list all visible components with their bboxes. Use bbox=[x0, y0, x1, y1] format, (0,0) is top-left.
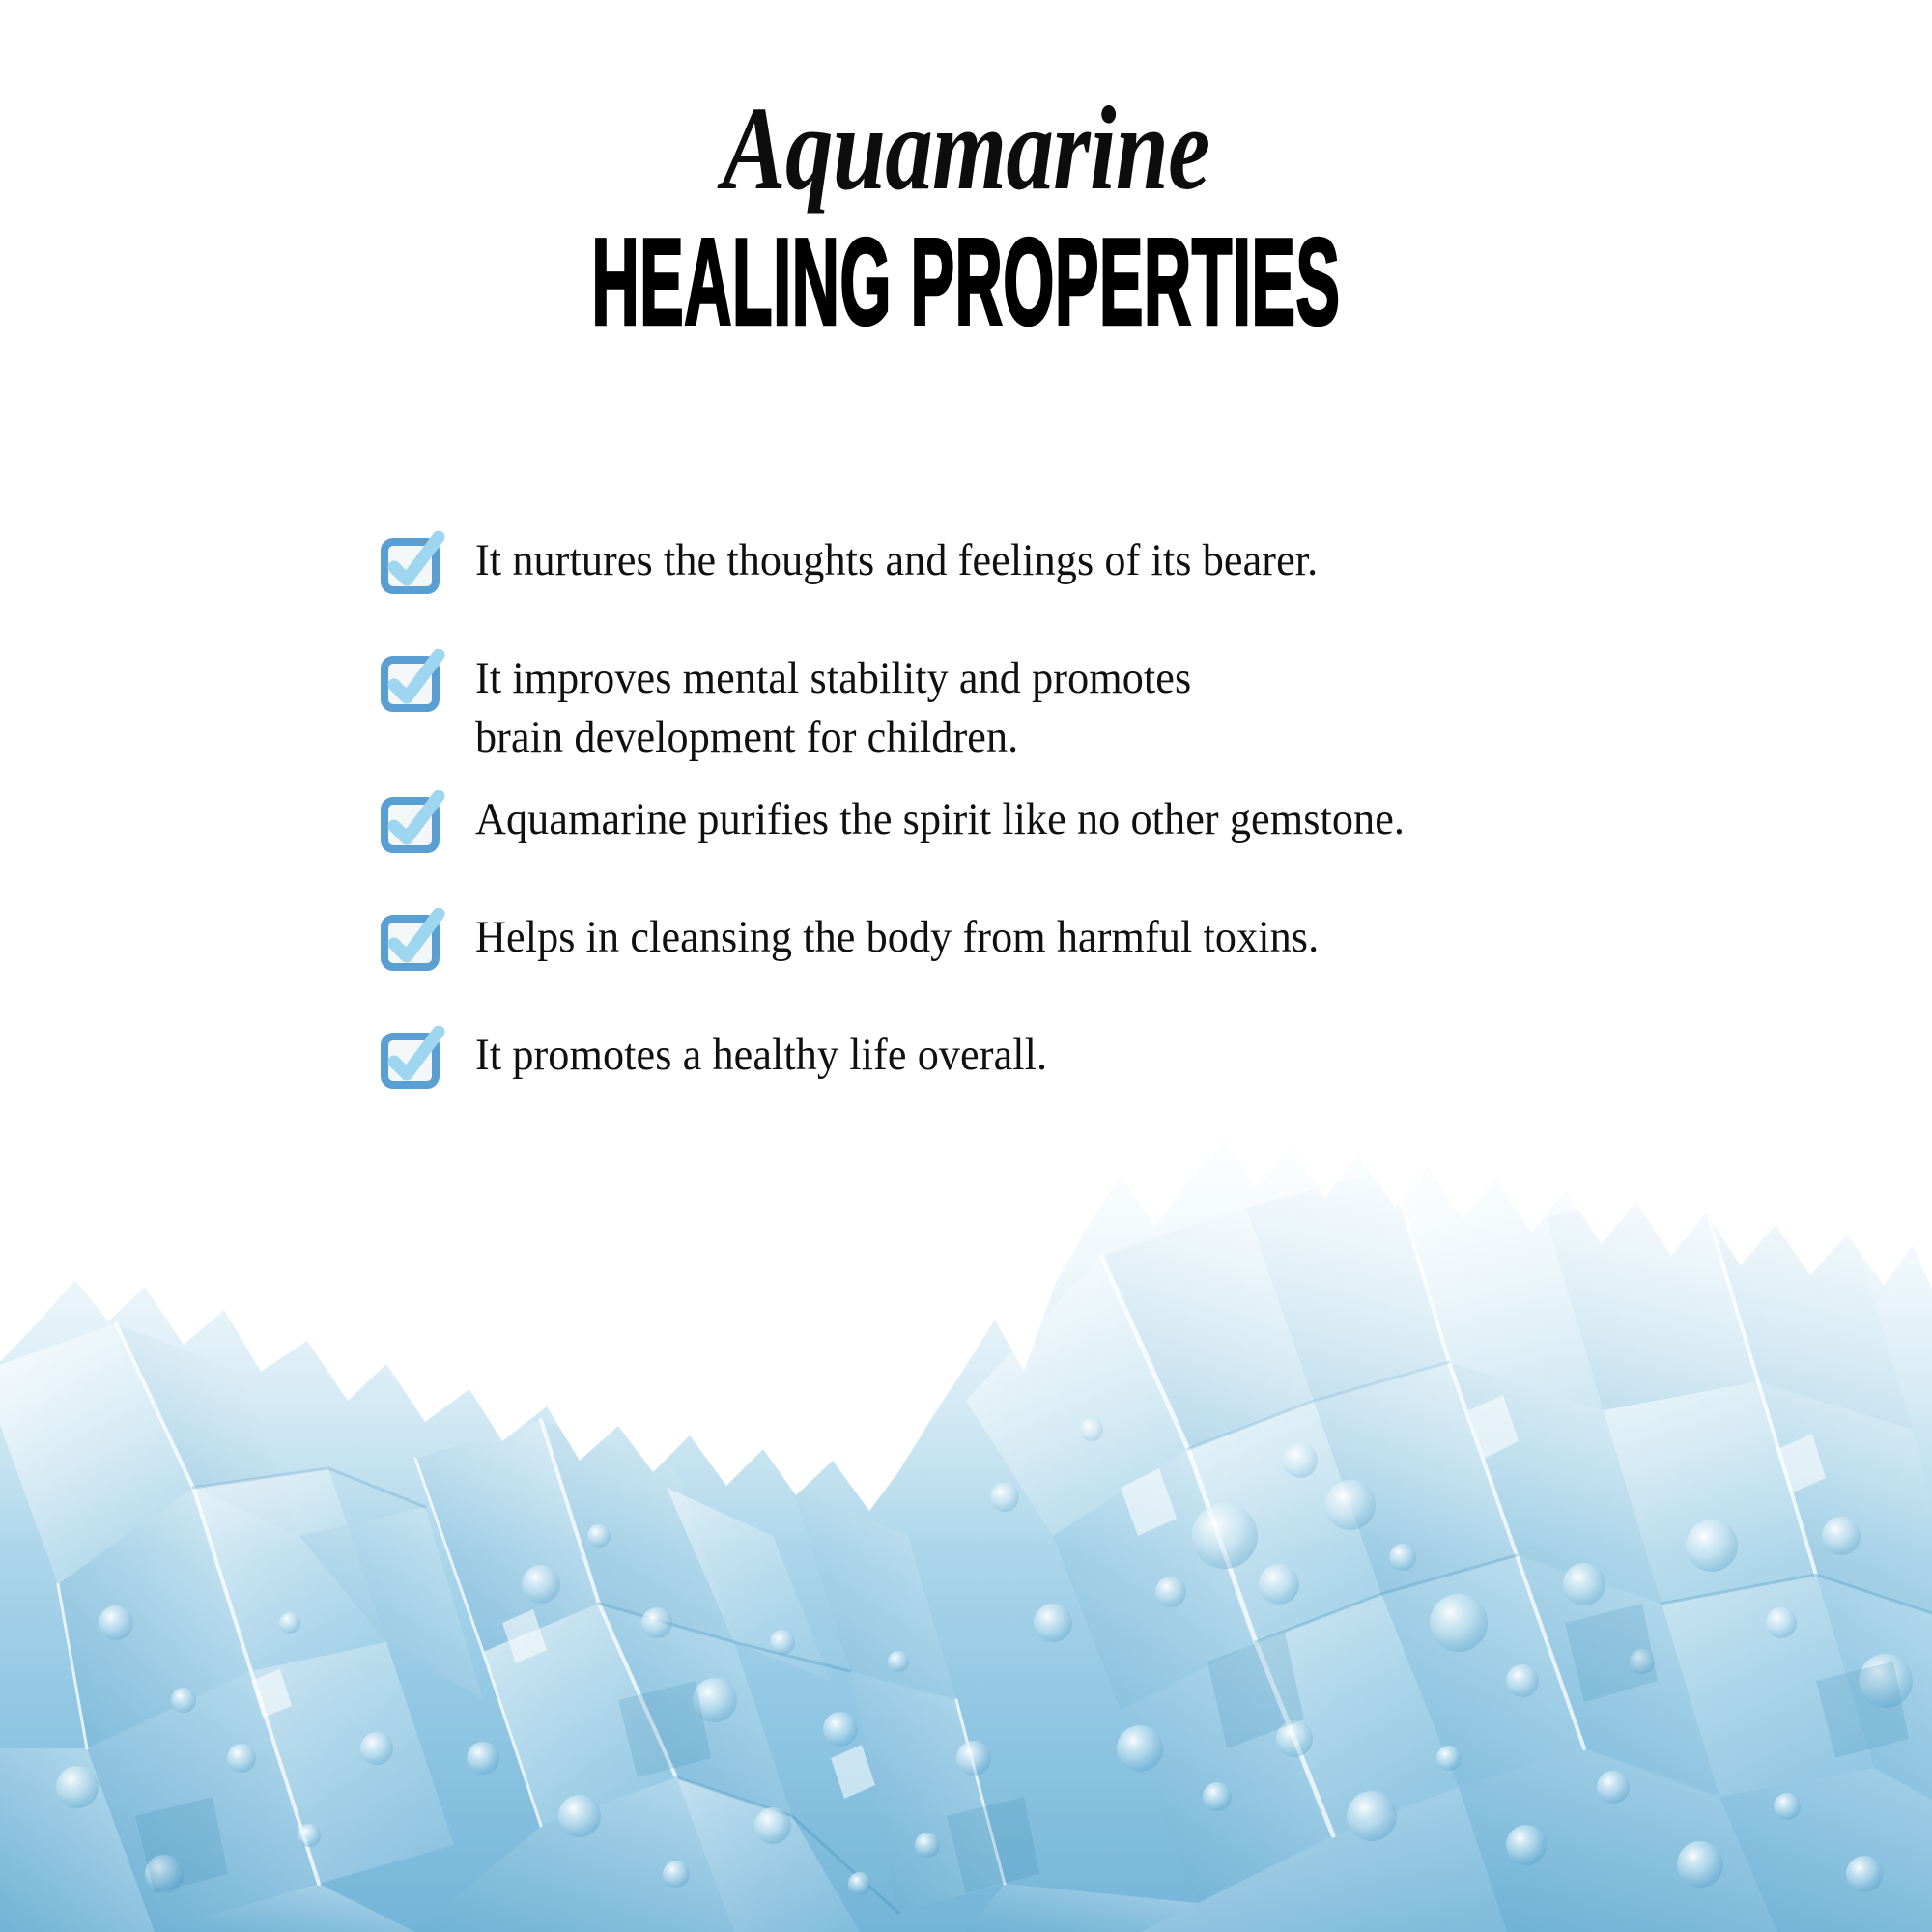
poster-canvas: Aquamarine HEALING PROPERTIES It nurture… bbox=[0, 0, 1932, 1932]
list-item: It promotes a healthy life overall. bbox=[377, 1024, 1594, 1088]
list-item-label: It improves mental stability and promote… bbox=[475, 647, 1191, 767]
healing-properties-list: It nurtures the thoughts and feelings of… bbox=[377, 529, 1594, 1142]
poster-header: Aquamarine HEALING PROPERTIES bbox=[0, 0, 1932, 332]
checkbox-checked-icon bbox=[377, 916, 433, 970]
list-item: It nurtures the thoughts and feelings of… bbox=[377, 529, 1594, 593]
list-item-label: Helps in cleansing the body from harmful… bbox=[475, 906, 1319, 967]
list-item-label: Aquamarine purifies the spirit like no o… bbox=[475, 788, 1405, 849]
list-item: It improves mental stability and promote… bbox=[377, 647, 1594, 767]
list-item: Aquamarine purifies the spirit like no o… bbox=[377, 788, 1594, 852]
page-subtitle: HEALING PROPERTIES bbox=[357, 197, 1575, 343]
checkbox-checked-icon bbox=[377, 798, 433, 852]
list-item-label: It promotes a healthy life overall. bbox=[475, 1024, 1047, 1085]
list-item: Helps in cleansing the body from harmful… bbox=[377, 906, 1594, 970]
checkbox-checked-icon bbox=[377, 657, 433, 711]
page-title: Aquamarine bbox=[193, 0, 1739, 209]
checkbox-checked-icon bbox=[377, 539, 433, 593]
checkbox-checked-icon bbox=[377, 1034, 433, 1088]
ice-cubes-photo bbox=[0, 1082, 1932, 1932]
list-item-label: It nurtures the thoughts and feelings of… bbox=[475, 529, 1318, 590]
